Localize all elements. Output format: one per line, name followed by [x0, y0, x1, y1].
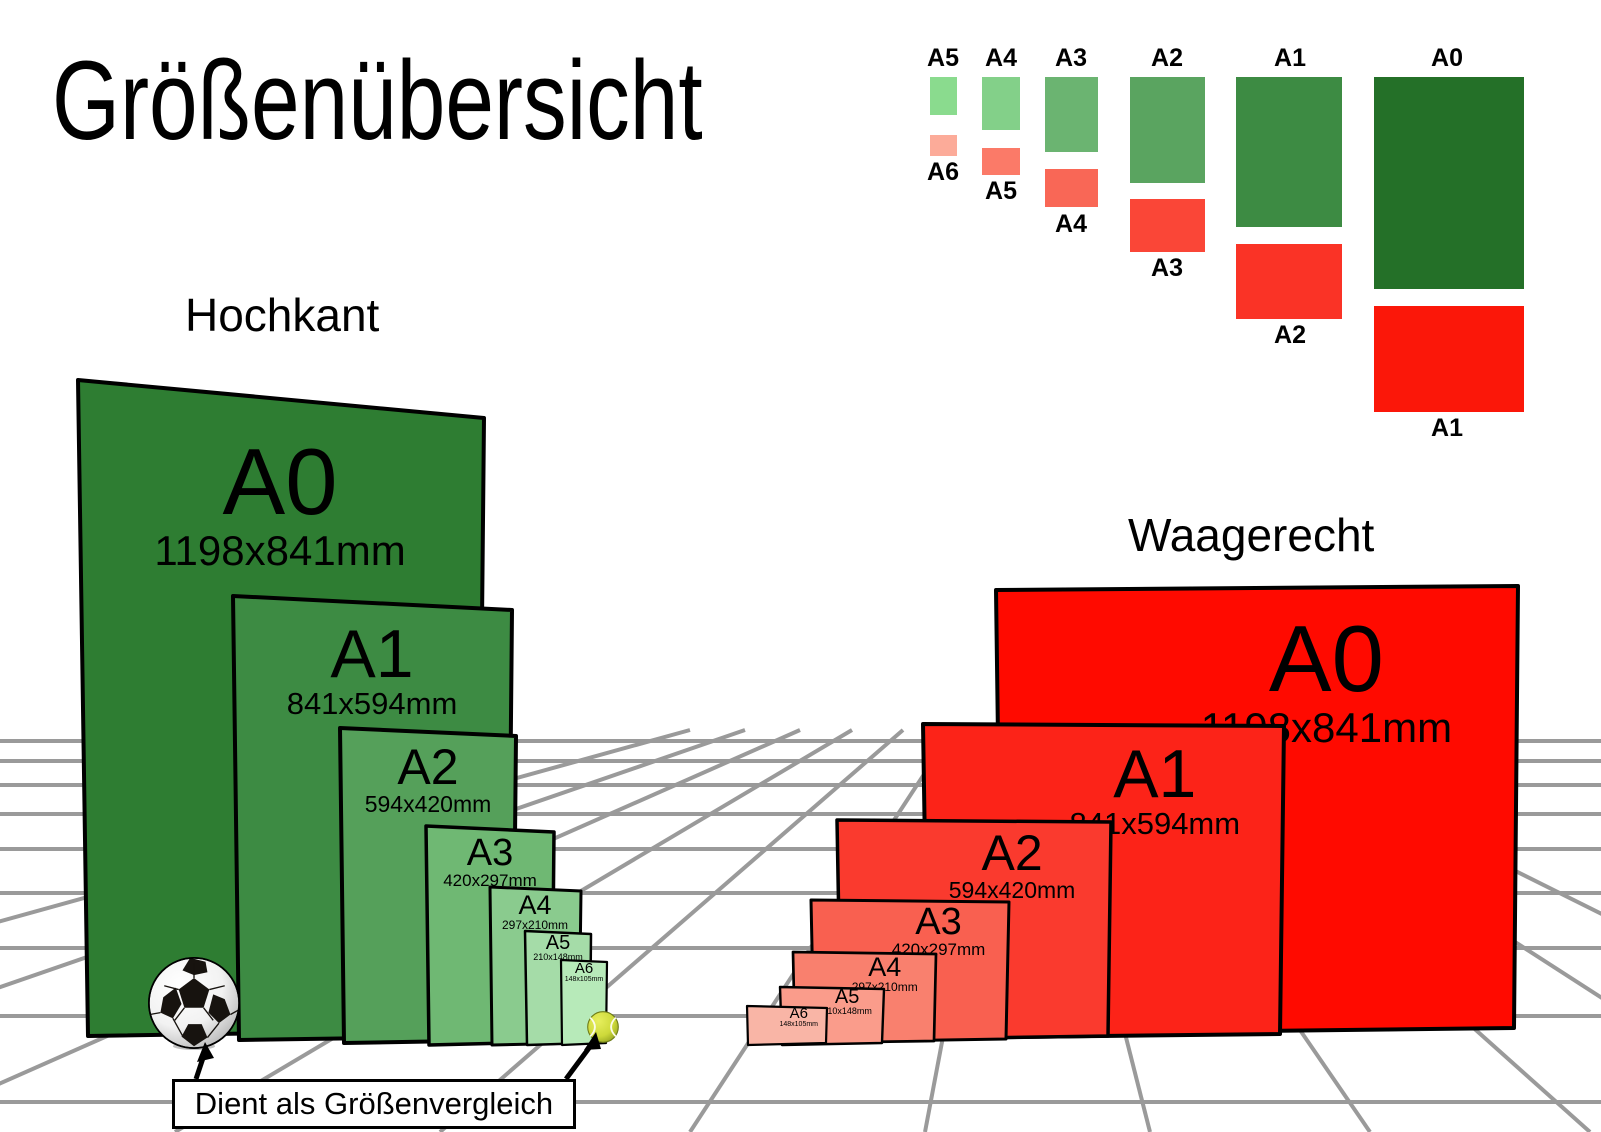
legend-landscape-rect [1130, 199, 1205, 252]
legend-landscape-rect [1236, 244, 1342, 319]
legend-portrait-label: A3 [1035, 44, 1107, 73]
portrait-section-caption: Hochkant [185, 288, 379, 342]
legend-portrait-label: A4 [973, 44, 1029, 73]
tennis-ball [586, 1010, 620, 1044]
size-comparison-legend: A5 A6 A4 A5 A3 A4 A2 A3 A1 [920, 44, 1540, 480]
legend-landscape-rect [930, 135, 957, 156]
legend-portrait-label: A2 [1117, 44, 1217, 73]
legend-portrait-label: A5 [920, 44, 966, 73]
legend-portrait-rect [930, 77, 957, 115]
legend-portrait-rect [1236, 77, 1342, 227]
legend-landscape-label: A4 [1035, 210, 1107, 239]
legend-landscape-label: A1 [1352, 414, 1542, 443]
legend-portrait-label: A1 [1220, 44, 1360, 73]
legend-landscape-label: A6 [920, 158, 966, 187]
legend-portrait-rect [1045, 77, 1098, 152]
legend-landscape-label: A5 [973, 177, 1029, 206]
landscape-section-caption: Waagerecht [1128, 508, 1374, 562]
legend-landscape-label: A3 [1117, 254, 1217, 283]
legend-landscape-label: A2 [1220, 321, 1360, 350]
legend-landscape-rect [982, 148, 1020, 175]
legend-portrait-rect [1374, 77, 1524, 289]
size-comparison-callout: Dient als Größenvergleich [172, 1079, 576, 1129]
legend-portrait-rect [1130, 77, 1205, 183]
legend-landscape-rect [1045, 169, 1098, 207]
page-title: Größenübersicht [52, 42, 703, 160]
poster-canvas: Größenübersicht Hochkant Waagerecht A0 1… [0, 0, 1601, 1132]
legend-portrait-label: A0 [1352, 44, 1542, 73]
legend-landscape-rect [1374, 306, 1524, 412]
soccer-ball [146, 955, 242, 1051]
legend-portrait-rect [982, 77, 1020, 130]
callout-text: Dient als Größenvergleich [195, 1086, 553, 1122]
sheet-landscape-a6[interactable]: A6 148x105mm [745, 1002, 829, 1048]
